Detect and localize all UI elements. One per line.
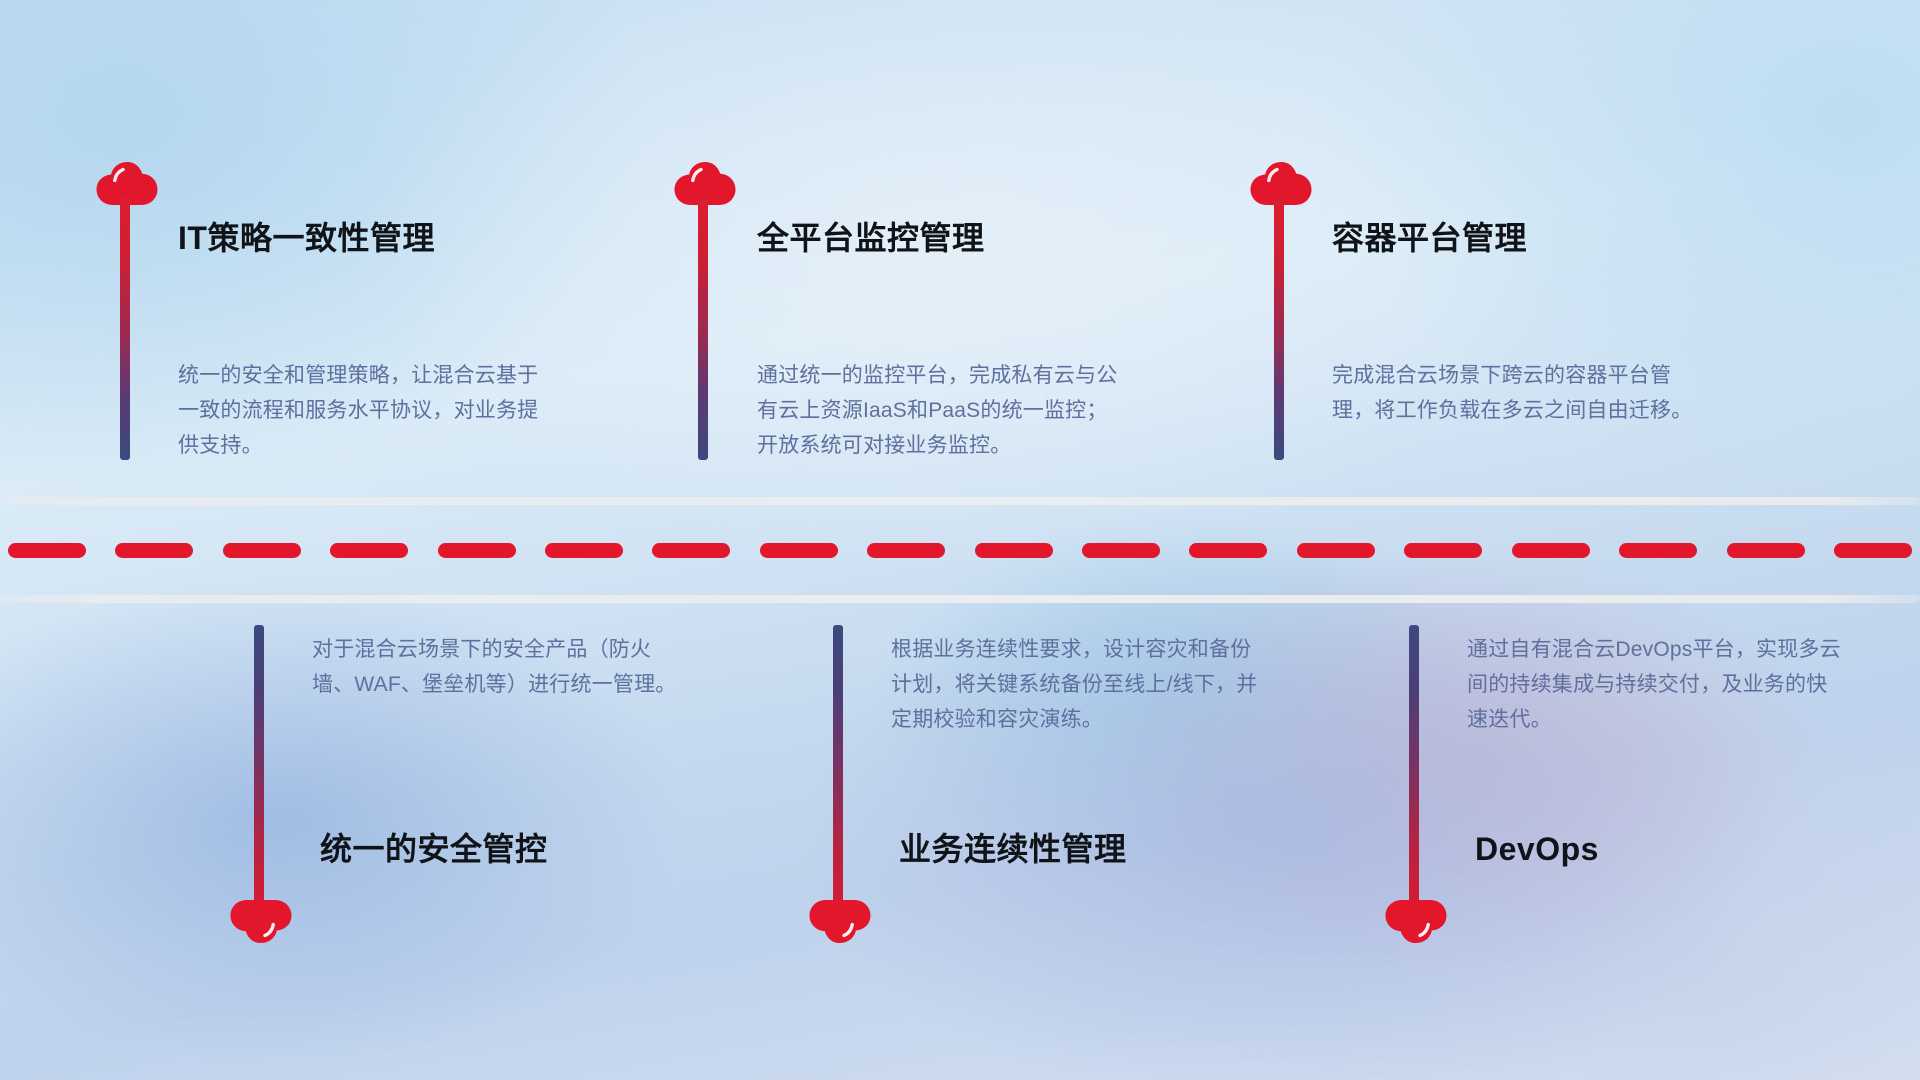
pole-connector bbox=[833, 625, 843, 910]
road-dash bbox=[1297, 543, 1375, 558]
top-column-description: 统一的安全和管理策略，让混合云基于一致的流程和服务水平协议，对业务提供支持。 bbox=[178, 358, 548, 463]
road-dash bbox=[1834, 543, 1912, 558]
top-column-title: IT策略一致性管理 bbox=[178, 222, 435, 254]
road-dash bbox=[1189, 543, 1267, 558]
road-dash bbox=[1512, 543, 1590, 558]
road-dash bbox=[1619, 543, 1697, 558]
cloud-icon bbox=[807, 897, 873, 945]
cloud-icon bbox=[228, 897, 294, 945]
pole-connector bbox=[254, 625, 264, 910]
bottom-column-title: DevOps bbox=[1475, 833, 1599, 865]
pole-connector bbox=[698, 196, 708, 460]
road-center-dashes bbox=[0, 543, 1920, 558]
bottom-column-description: 根据业务连续性要求，设计容灾和备份计划，将关键系统备份至线上/线下，并定期校验和… bbox=[891, 632, 1271, 737]
top-column-title: 容器平台管理 bbox=[1332, 222, 1527, 254]
top-column-title: 全平台监控管理 bbox=[757, 222, 985, 254]
pole-connector bbox=[1409, 625, 1419, 910]
road-dash bbox=[223, 543, 301, 558]
road-dash bbox=[545, 543, 623, 558]
road-dash bbox=[760, 543, 838, 558]
road-dash bbox=[652, 543, 730, 558]
road-dash bbox=[438, 543, 516, 558]
bottom-column-title: 统一的安全管控 bbox=[320, 833, 548, 865]
road-edge-line-top bbox=[0, 497, 1920, 505]
top-column-description: 通过统一的监控平台，完成私有云与公有云上资源IaaS和PaaS的统一监控；开放系… bbox=[757, 358, 1127, 463]
road-dash bbox=[1082, 543, 1160, 558]
road-dash bbox=[330, 543, 408, 558]
road-edge-line-bottom bbox=[0, 595, 1920, 603]
bottom-column-description: 对于混合云场景下的安全产品（防火墙、WAF、堡垒机等）进行统一管理。 bbox=[312, 632, 692, 702]
bottom-column-title: 业务连续性管理 bbox=[899, 833, 1127, 865]
cloud-icon bbox=[1383, 897, 1449, 945]
road-dash bbox=[115, 543, 193, 558]
bottom-column-description: 通过自有混合云DevOps平台，实现多云间的持续集成与持续交付，及业务的快速迭代… bbox=[1467, 632, 1847, 737]
road-dash bbox=[1727, 543, 1805, 558]
pole-connector bbox=[120, 196, 130, 460]
road-dash bbox=[8, 543, 86, 558]
road-dash bbox=[975, 543, 1053, 558]
pole-connector bbox=[1274, 196, 1284, 460]
top-column-description: 完成混合云场景下跨云的容器平台管理，将工作负载在多云之间自由迁移。 bbox=[1332, 358, 1702, 428]
infographic-canvas: IT策略一致性管理 统一的安全和管理策略，让混合云基于一致的流程和服务水平协议，… bbox=[0, 0, 1920, 1080]
road-dash bbox=[867, 543, 945, 558]
road-dash bbox=[1404, 543, 1482, 558]
